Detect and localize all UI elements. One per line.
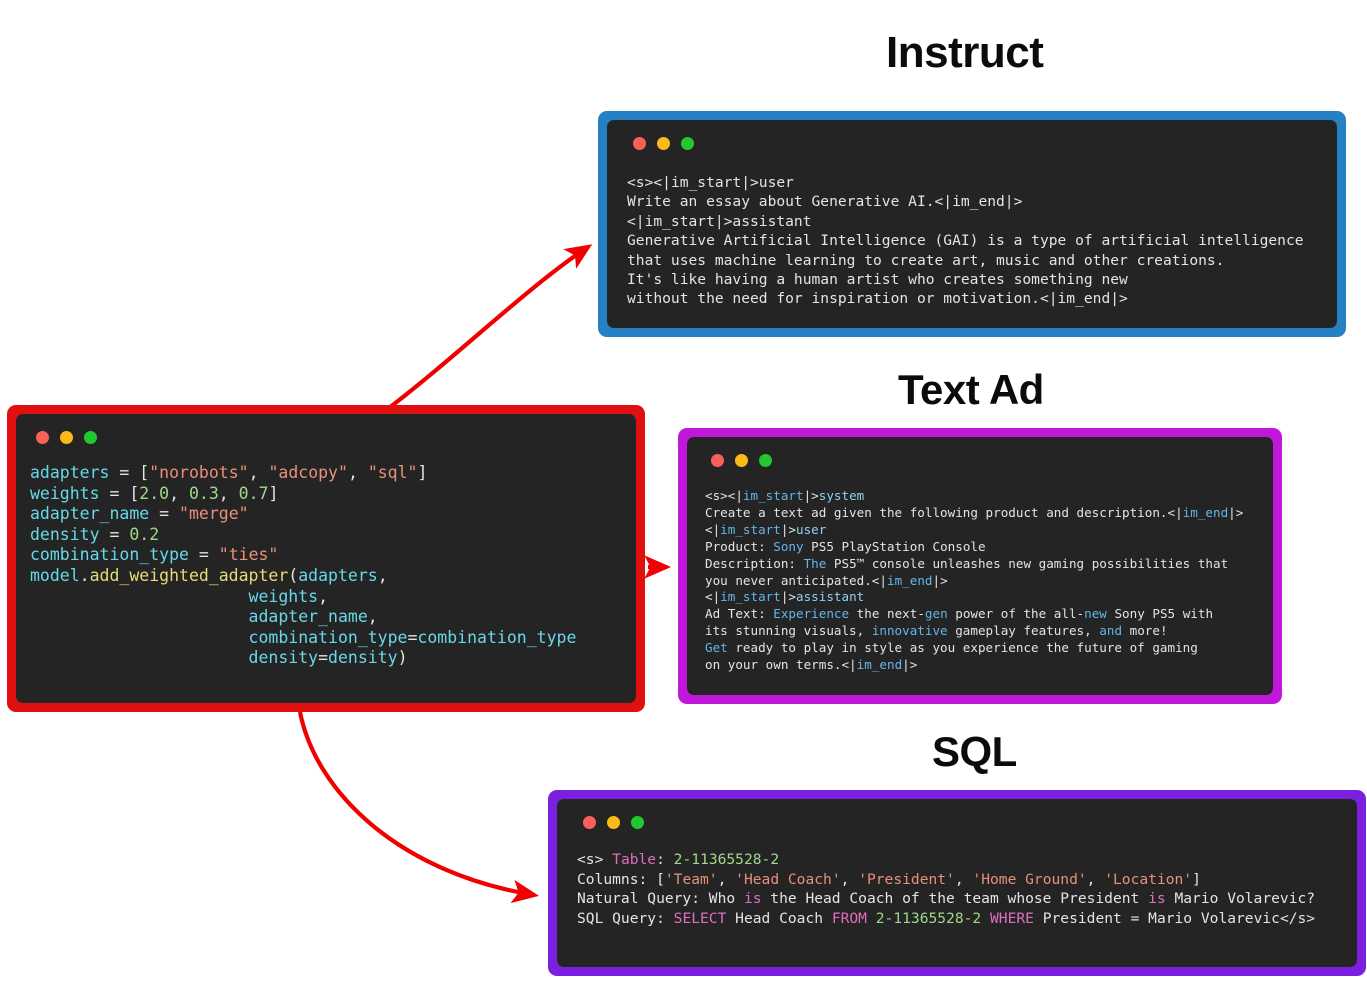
window-controls: [633, 133, 1317, 153]
terminal-body: <s><|im_start|>userWrite an essay about …: [607, 120, 1337, 328]
instruct-sample-window[interactable]: <s><|im_start|>userWrite an essay about …: [598, 111, 1346, 337]
code-line: adapters = ["norobots", "adcopy", "sql"]: [30, 463, 622, 484]
code-line: <|im_start|>assistant: [705, 589, 1255, 606]
diagram-canvas: Instruct Text Ad SQL adapters = ["norobo…: [0, 0, 1367, 1006]
window-controls: [583, 812, 1337, 832]
code-line: <|im_start|>assistant: [627, 212, 1317, 231]
page-title-instruct: Instruct: [886, 28, 1043, 78]
code-line: weights,: [30, 587, 622, 608]
code-line: <s><|im_start|>system: [705, 488, 1255, 505]
sql-sample-window[interactable]: <s> Table: 2-11365528-2Columns: ['Team',…: [548, 790, 1366, 976]
code-line: Product: Sony PS5 PlayStation Console: [705, 539, 1255, 556]
code-line: Columns: ['Team', 'Head Coach', 'Preside…: [577, 870, 1337, 890]
code-line: adapter_name,: [30, 607, 622, 628]
code-line: Ad Text: Experience the next-gen power o…: [705, 606, 1255, 623]
minimize-icon[interactable]: [735, 454, 748, 467]
code-line: Get ready to play in style as you experi…: [705, 640, 1255, 657]
code-line: on your own terms.<|im_end|>: [705, 657, 1255, 674]
minimize-icon[interactable]: [607, 816, 620, 829]
page-title-text-ad: Text Ad: [898, 366, 1044, 414]
code-line: that uses machine learning to create art…: [627, 251, 1317, 270]
code-line: <s> Table: 2-11365528-2: [577, 850, 1337, 870]
terminal-body: adapters = ["norobots", "adcopy", "sql"]…: [16, 414, 636, 703]
code-line: Description: The PS5™ console unleashes …: [705, 556, 1255, 573]
code-line: adapter_name = "merge": [30, 504, 622, 525]
code-line: <s><|im_start|>user: [627, 173, 1317, 192]
instruct-content: <s><|im_start|>userWrite an essay about …: [627, 173, 1317, 309]
code-line: Create a text ad given the following pro…: [705, 505, 1255, 522]
text-ad-content: <s><|im_start|>systemCreate a text ad gi…: [705, 488, 1255, 674]
arrow-code-to-instruct: [385, 247, 588, 411]
code-line: its stunning visuals, innovative gamepla…: [705, 623, 1255, 640]
minimize-icon[interactable]: [60, 431, 73, 444]
code-line: weights = [2.0, 0.3, 0.7]: [30, 484, 622, 505]
code-line: without the need for inspiration or moti…: [627, 289, 1317, 308]
terminal-body: <s> Table: 2-11365528-2Columns: ['Team',…: [557, 799, 1357, 967]
code-line: you never anticipated.<|im_end|>: [705, 573, 1255, 590]
close-icon[interactable]: [583, 816, 596, 829]
window-controls: [36, 427, 622, 447]
arrow-code-to-sql: [300, 712, 534, 895]
code-line: Write an essay about Generative AI.<|im_…: [627, 192, 1317, 211]
minimize-icon[interactable]: [657, 137, 670, 150]
maximize-icon[interactable]: [681, 137, 694, 150]
code-line: model.add_weighted_adapter(adapters,: [30, 566, 622, 587]
sql-content: <s> Table: 2-11365528-2Columns: ['Team',…: [577, 850, 1337, 928]
terminal-body: <s><|im_start|>systemCreate a text ad gi…: [687, 437, 1273, 695]
page-title-sql: SQL: [932, 728, 1017, 776]
code-line: combination_type=combination_type: [30, 628, 622, 649]
close-icon[interactable]: [36, 431, 49, 444]
code-line: Natural Query: Who is the Head Coach of …: [577, 889, 1337, 909]
close-icon[interactable]: [633, 137, 646, 150]
code-content: adapters = ["norobots", "adcopy", "sql"]…: [30, 463, 622, 669]
code-line: combination_type = "ties": [30, 545, 622, 566]
maximize-icon[interactable]: [84, 431, 97, 444]
merge-code-window[interactable]: adapters = ["norobots", "adcopy", "sql"]…: [7, 405, 645, 712]
window-controls: [711, 450, 1255, 470]
close-icon[interactable]: [711, 454, 724, 467]
code-line: It's like having a human artist who crea…: [627, 270, 1317, 289]
code-line: Generative Artificial Intelligence (GAI)…: [627, 231, 1317, 250]
code-line: <|im_start|>user: [705, 522, 1255, 539]
code-line: density = 0.2: [30, 525, 622, 546]
maximize-icon[interactable]: [759, 454, 772, 467]
maximize-icon[interactable]: [631, 816, 644, 829]
code-line: density=density): [30, 648, 622, 669]
text-ad-sample-window[interactable]: <s><|im_start|>systemCreate a text ad gi…: [678, 428, 1282, 704]
code-line: SQL Query: SELECT Head Coach FROM 2-1136…: [577, 909, 1337, 929]
